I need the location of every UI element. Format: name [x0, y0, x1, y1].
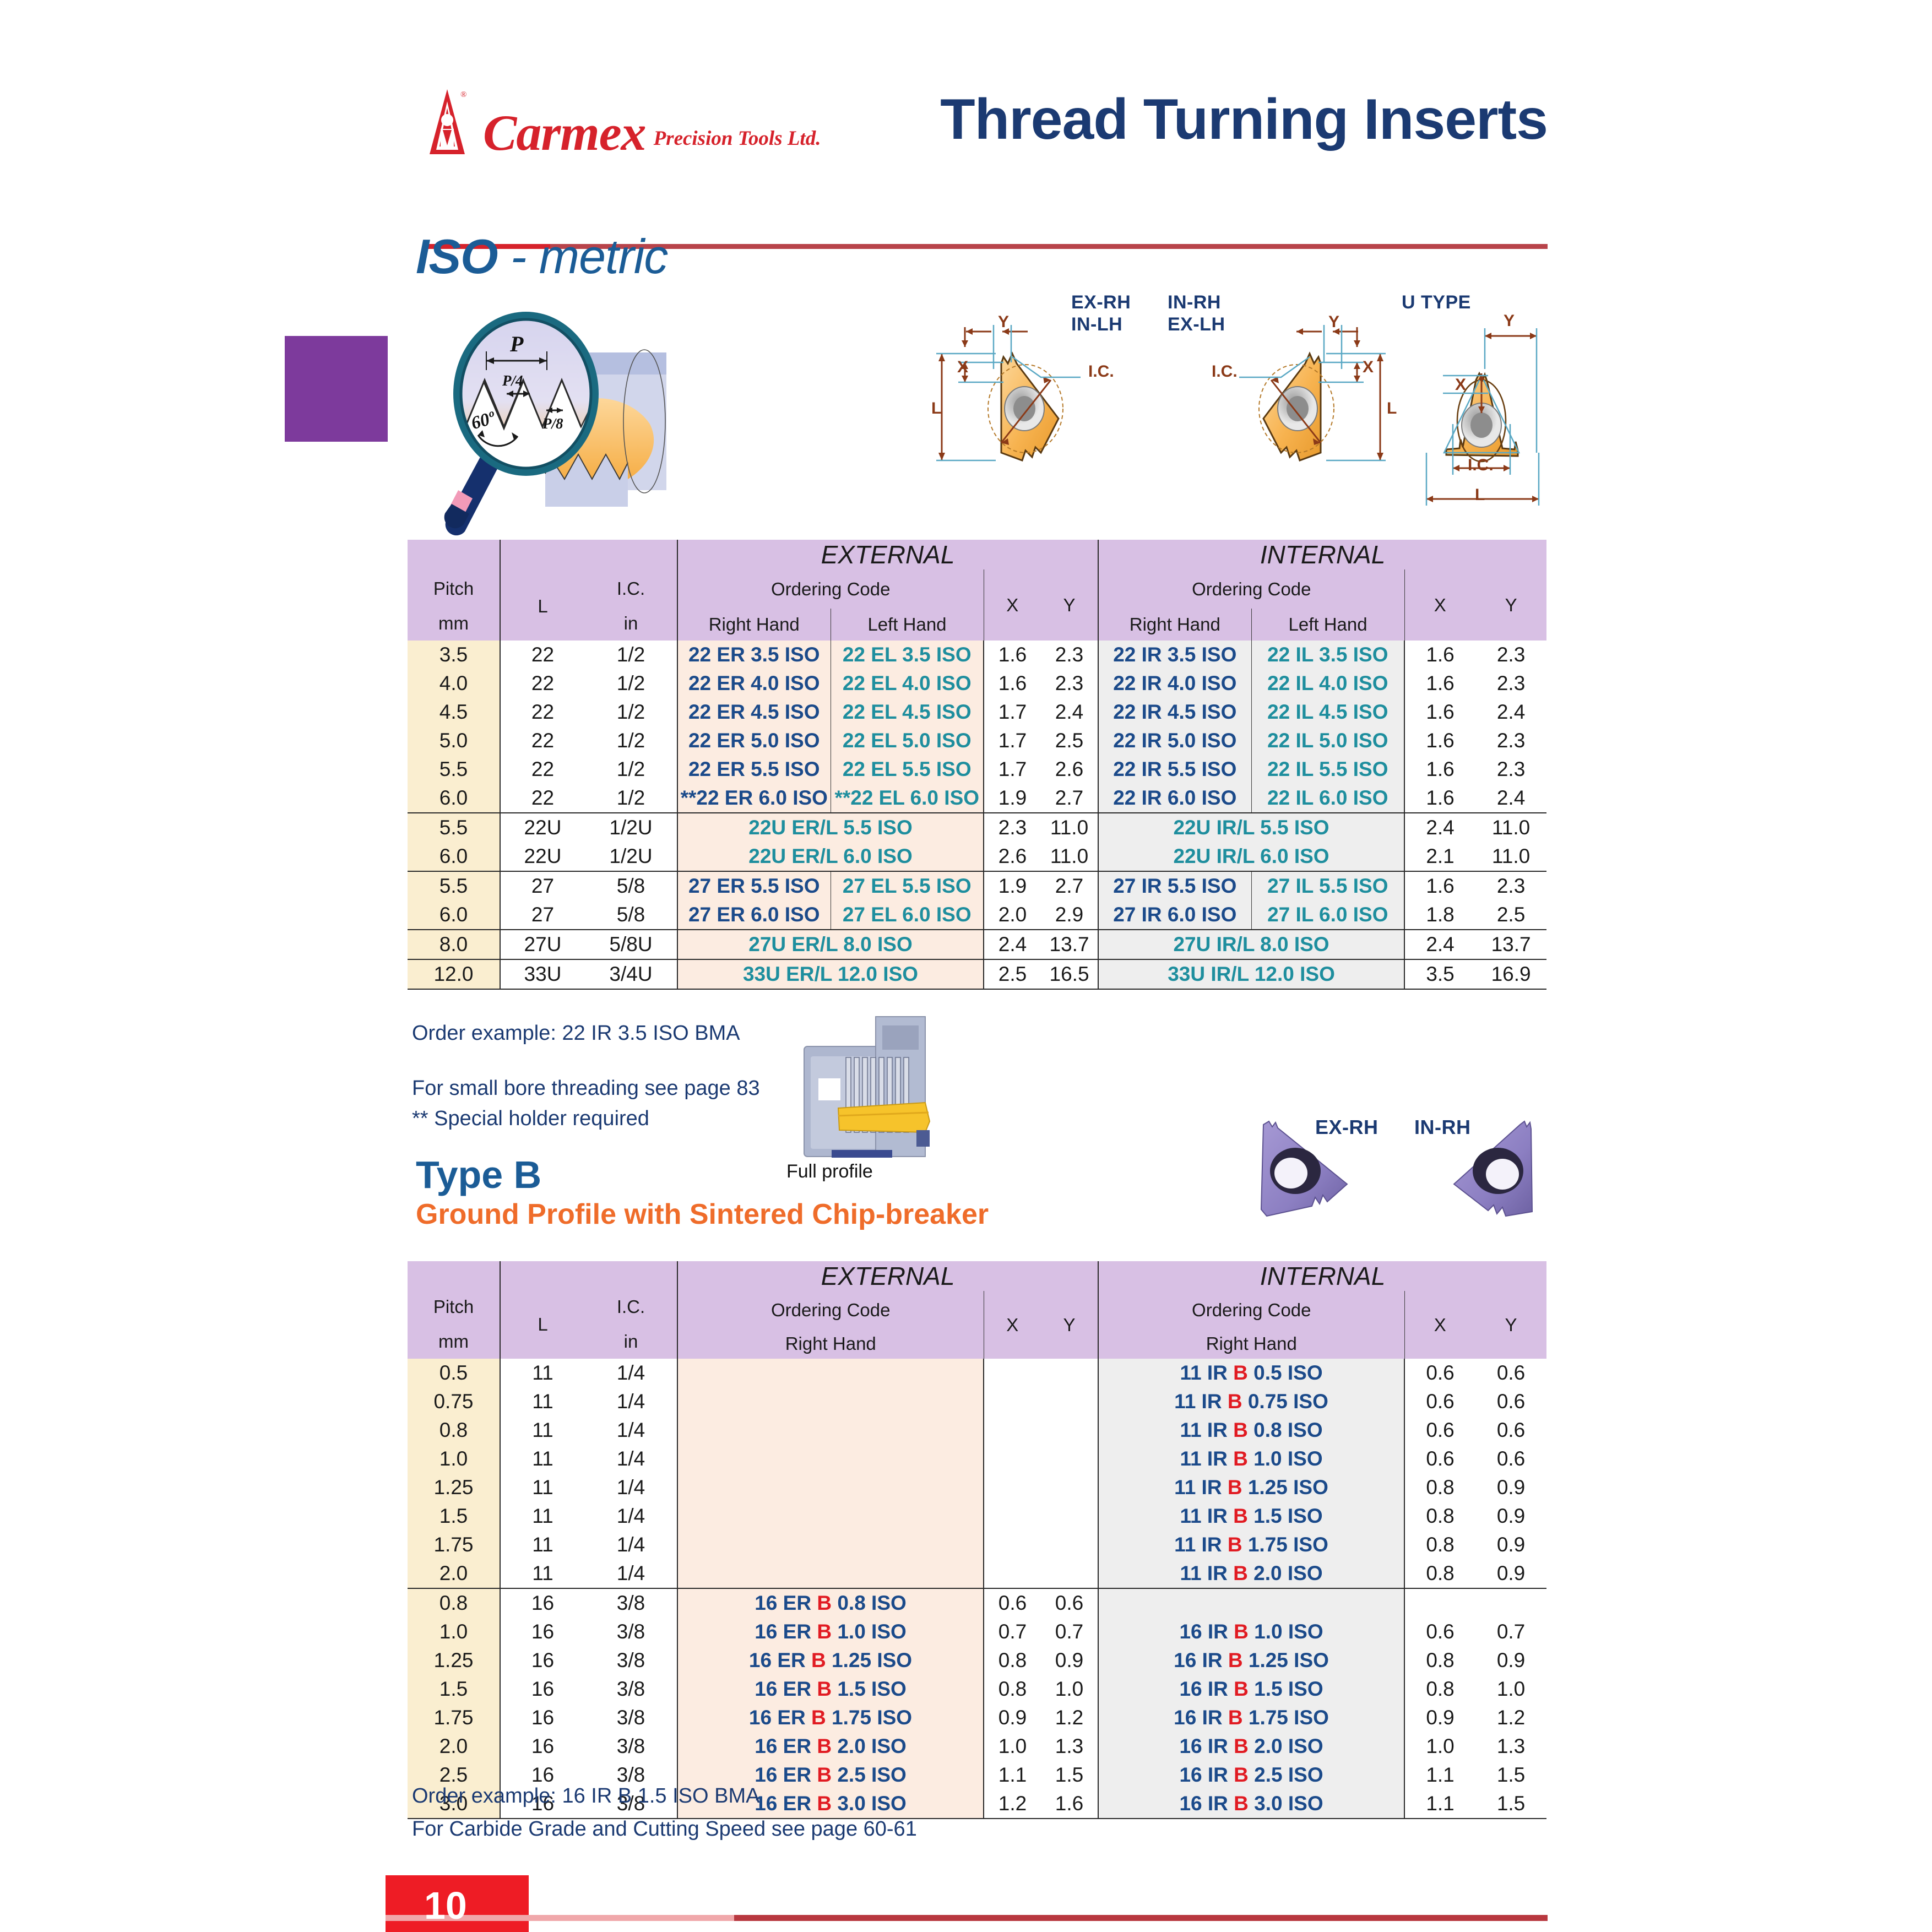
- cell-int-y: 0.9: [1475, 1502, 1546, 1531]
- section-title-type-b: Type B: [416, 1153, 541, 1197]
- cell-ext-y: 1.0: [1041, 1675, 1098, 1703]
- cell-ext-lh: **22 EL 6.0 ISO: [831, 784, 984, 813]
- brand-name: Carmex: [483, 109, 646, 157]
- cell-pitch: 1.25: [408, 1473, 500, 1502]
- table-row: 2.0111/411 IR B 2.0 ISO0.80.9: [408, 1559, 1546, 1588]
- dim-label-ic-u: I.C.: [1468, 456, 1494, 475]
- table-row: 3.5221/222 ER 3.5 ISO22 EL 3.5 ISO1.62.3…: [408, 641, 1546, 669]
- cell-int-y: 11.0: [1475, 842, 1546, 871]
- cell-ic: 1/4: [585, 1445, 677, 1473]
- cell-int-y: 2.3: [1475, 871, 1546, 900]
- th-ic: I.C.in: [585, 540, 677, 641]
- table-row: 4.0221/222 ER 4.0 ISO22 EL 4.0 ISO1.62.3…: [408, 669, 1546, 698]
- table-row: 4.5221/222 ER 4.5 ISO22 EL 4.5 ISO1.72.4…: [408, 698, 1546, 726]
- cell-int-x: 1.6: [1404, 871, 1475, 900]
- cell-l: 11: [500, 1559, 585, 1588]
- cell-int-x: 0.6: [1404, 1416, 1475, 1445]
- cell-ext-x: 1.7: [984, 726, 1041, 755]
- cell-int-y: 1.5: [1475, 1761, 1546, 1789]
- cell-pitch: 4.5: [408, 698, 500, 726]
- cell-ext-lh: 27 EL 6.0 ISO: [831, 900, 984, 930]
- cell-ext-code: [677, 1445, 984, 1473]
- cell-int-code: 11 IR B 0.5 ISO: [1098, 1359, 1404, 1387]
- dim-label-ic-left: I.C.: [1088, 362, 1114, 381]
- cell-int-rh: 22 IR 4.0 ISO: [1098, 669, 1251, 698]
- cell-int-code: 11 IR B 1.25 ISO: [1098, 1473, 1404, 1502]
- cell-int-code: 11 IR B 2.0 ISO: [1098, 1559, 1404, 1588]
- cell-l: 16: [500, 1618, 585, 1646]
- cell-int-rh: 22 IR 3.5 ISO: [1098, 641, 1251, 669]
- cell-pitch: 1.0: [408, 1445, 500, 1473]
- dim-label-y-u: Y: [1504, 312, 1515, 330]
- cell-int-y: 11.0: [1475, 813, 1546, 842]
- cell-int-y: 2.3: [1475, 641, 1546, 669]
- cell-int-code: 16 IR B 3.0 ISO: [1098, 1789, 1404, 1819]
- cell-ext-x: [984, 1387, 1041, 1416]
- cell-ext-lh: 22 EL 4.5 ISO: [831, 698, 984, 726]
- th2-int-right-hand: Right Hand: [1098, 1329, 1404, 1359]
- th-int-right-hand: Right Hand: [1098, 609, 1251, 641]
- cell-ext-x: 1.6: [984, 641, 1041, 669]
- th2-int-x: X: [1404, 1291, 1475, 1359]
- cell-ext-code: 16 ER B 1.0 ISO: [677, 1618, 984, 1646]
- cell-ic: 1/4: [585, 1416, 677, 1445]
- cell-ic: 3/8: [585, 1646, 677, 1675]
- cell-ext-y: 0.9: [1041, 1646, 1098, 1675]
- cell-ext-x: 0.7: [984, 1618, 1041, 1646]
- th-external: EXTERNAL: [677, 540, 1098, 569]
- cell-ext-x: [984, 1473, 1041, 1502]
- cell-ext-rh: 22 ER 4.0 ISO: [677, 669, 831, 698]
- cell-ext-y: [1041, 1359, 1098, 1387]
- cell-int-x: 1.6: [1404, 726, 1475, 755]
- th-int-x: X: [1404, 569, 1475, 641]
- cell-int-code: 11 IR B 0.75 ISO: [1098, 1387, 1404, 1416]
- th2-ext-y: Y: [1041, 1291, 1098, 1359]
- full-profile-holder-image: [799, 1013, 986, 1173]
- cell-int-y: 0.6: [1475, 1416, 1546, 1445]
- cell-int-rh: 27 IR 5.5 ISO: [1098, 871, 1251, 900]
- table-row: 6.0275/827 ER 6.0 ISO27 EL 6.0 ISO2.02.9…: [408, 900, 1546, 930]
- table-row: 2.0163/816 ER B 2.0 ISO1.01.316 IR B 2.0…: [408, 1732, 1546, 1761]
- cell-pitch: 1.5: [408, 1675, 500, 1703]
- cell-int-rh: 22 IR 4.5 ISO: [1098, 698, 1251, 726]
- th2-l: L: [500, 1261, 585, 1359]
- cell-pitch: 5.5: [408, 813, 500, 842]
- th2-ic: I.C.in: [585, 1261, 677, 1359]
- th-ext-right-hand: Right Hand: [677, 609, 831, 641]
- cell-ext-y: 1.3: [1041, 1732, 1098, 1761]
- cell-ic: 1/4: [585, 1359, 677, 1387]
- cell-ext-x: 2.6: [984, 842, 1041, 871]
- table-row: 0.75111/411 IR B 0.75 ISO0.60.6: [408, 1387, 1546, 1416]
- cell-ext-rh: 22 ER 4.5 ISO: [677, 698, 831, 726]
- cell-int-x: 0.8: [1404, 1531, 1475, 1559]
- cell-ext-code: [677, 1416, 984, 1445]
- cell-int-x: 0.8: [1404, 1646, 1475, 1675]
- cell-ic: 1/4: [585, 1559, 677, 1588]
- cell-l: 22U: [500, 813, 585, 842]
- cell-int-y: 2.3: [1475, 726, 1546, 755]
- th-int-left-hand: Left Hand: [1251, 609, 1404, 641]
- table-row: 0.8163/816 ER B 0.8 ISO0.60.6: [408, 1588, 1546, 1618]
- dim-label-ic-mid: I.C.: [1212, 362, 1238, 381]
- table-row: 5.5221/222 ER 5.5 ISO22 EL 5.5 ISO1.72.6…: [408, 755, 1546, 784]
- cell-int-x: 1.6: [1404, 669, 1475, 698]
- th2-external: EXTERNAL: [677, 1261, 1098, 1291]
- cell-pitch: 1.75: [408, 1531, 500, 1559]
- page-header: ® Carmex Precision Tools Ltd. Thread Tur…: [408, 77, 1548, 176]
- cell-pitch: 1.75: [408, 1703, 500, 1732]
- cell-pitch: 0.8: [408, 1416, 500, 1445]
- cell-ext-y: 11.0: [1041, 813, 1098, 842]
- cell-int-x: 1.6: [1404, 641, 1475, 669]
- cell-l: 33U: [500, 959, 585, 989]
- table-row: 1.75163/816 ER B 1.75 ISO0.91.216 IR B 1…: [408, 1703, 1546, 1732]
- note-small-bore: For small bore threading see page 83: [412, 1077, 760, 1100]
- cell-pitch: 4.0: [408, 669, 500, 698]
- cell-int-code: 16 IR B 1.0 ISO: [1098, 1618, 1404, 1646]
- cell-ext-code: [677, 1502, 984, 1531]
- cell-int-x: 0.6: [1404, 1445, 1475, 1473]
- cell-l: 22: [500, 669, 585, 698]
- cell-ic: 5/8U: [585, 930, 677, 959]
- cell-ext-code: [677, 1559, 984, 1588]
- cell-int-x: 0.8: [1404, 1675, 1475, 1703]
- cell-int-lh: 22 IL 4.0 ISO: [1251, 669, 1404, 698]
- cell-int-code: 22U IR/L 6.0 ISO: [1098, 842, 1404, 871]
- cell-ext-rh: 27 ER 5.5 ISO: [677, 871, 831, 900]
- cell-int-y: 0.9: [1475, 1531, 1546, 1559]
- cell-int-x: 2.1: [1404, 842, 1475, 871]
- cell-ic: 1/2: [585, 669, 677, 698]
- cell-ext-x: 2.4: [984, 930, 1041, 959]
- cell-l: 22: [500, 784, 585, 813]
- cell-int-code: 22U IR/L 5.5 ISO: [1098, 813, 1404, 842]
- cell-int-x: 1.1: [1404, 1789, 1475, 1819]
- table-row: 6.0221/2**22 ER 6.0 ISO**22 EL 6.0 ISO1.…: [408, 784, 1546, 813]
- th2-int-ordering-code: Ordering Code: [1098, 1291, 1404, 1329]
- note-order-example-1: Order example: 22 IR 3.5 ISO BMA: [412, 1022, 740, 1045]
- cell-ext-x: [984, 1502, 1041, 1531]
- cell-l: 11: [500, 1445, 585, 1473]
- th-int-ordering-code: Ordering Code: [1098, 569, 1404, 609]
- cell-int-x: 2.4: [1404, 930, 1475, 959]
- cell-int-lh: 22 IL 4.5 ISO: [1251, 698, 1404, 726]
- cell-ext-lh: 22 EL 5.0 ISO: [831, 726, 984, 755]
- cell-int-lh: 27 IL 6.0 ISO: [1251, 900, 1404, 930]
- cell-l: 27: [500, 871, 585, 900]
- cell-ext-x: 2.0: [984, 900, 1041, 930]
- table-row: 0.5111/411 IR B 0.5 ISO0.60.6: [408, 1359, 1546, 1387]
- carmex-logo-icon: ®: [419, 88, 476, 157]
- cell-l: 27U: [500, 930, 585, 959]
- cell-ext-code: 27U ER/L 8.0 ISO: [677, 930, 984, 959]
- th-internal: INTERNAL: [1098, 540, 1546, 569]
- cell-l: 11: [500, 1416, 585, 1445]
- cell-ic: 3/8: [585, 1588, 677, 1618]
- cell-pitch: 6.0: [408, 784, 500, 813]
- table-row: 1.0163/816 ER B 1.0 ISO0.70.716 IR B 1.0…: [408, 1618, 1546, 1646]
- cell-ext-rh: 27 ER 6.0 ISO: [677, 900, 831, 930]
- cell-l: 22: [500, 755, 585, 784]
- table-row: 1.5163/816 ER B 1.5 ISO0.81.016 IR B 1.5…: [408, 1675, 1546, 1703]
- cell-ext-x: [984, 1559, 1041, 1588]
- dim-label-y-mid: Y: [1328, 313, 1339, 332]
- cell-int-code: 16 IR B 2.5 ISO: [1098, 1761, 1404, 1789]
- cell-int-lh: 22 IL 5.0 ISO: [1251, 726, 1404, 755]
- cell-ext-code: [677, 1359, 984, 1387]
- cell-ic: 1/2: [585, 755, 677, 784]
- section-subtitle-type-b: Ground Profile with Sintered Chip-breake…: [416, 1198, 989, 1231]
- cell-l: 16: [500, 1703, 585, 1732]
- cell-l: 16: [500, 1675, 585, 1703]
- cell-ext-y: 1.6: [1041, 1789, 1098, 1819]
- th-ext-y: Y: [1041, 569, 1098, 641]
- catalog-page: ® Carmex Precision Tools Ltd. Thread Tur…: [0, 0, 1932, 1932]
- cell-l: 11: [500, 1502, 585, 1531]
- cell-int-code: 16 IR B 2.0 ISO: [1098, 1732, 1404, 1761]
- cell-ext-lh: 27 EL 5.5 ISO: [831, 871, 984, 900]
- cell-int-rh: 22 IR 5.0 ISO: [1098, 726, 1251, 755]
- iso-metric-table: PitchmmLI.C.inEXTERNALINTERNALOrdering C…: [408, 540, 1546, 990]
- cell-pitch: 3.5: [408, 641, 500, 669]
- cell-int-x: 0.8: [1404, 1473, 1475, 1502]
- cell-int-x: 0.8: [1404, 1559, 1475, 1588]
- cell-ic: 1/2: [585, 784, 677, 813]
- cell-int-y: 0.7: [1475, 1618, 1546, 1646]
- cell-pitch: 5.5: [408, 755, 500, 784]
- th-ext-left-hand: Left Hand: [831, 609, 984, 641]
- cell-ext-code: 16 ER B 1.75 ISO: [677, 1703, 984, 1732]
- th2-ext-ordering-code: Ordering Code: [677, 1291, 984, 1329]
- cell-pitch: 2.0: [408, 1732, 500, 1761]
- th-ext-x: X: [984, 569, 1041, 641]
- cell-int-code: 11 IR B 0.8 ISO: [1098, 1416, 1404, 1445]
- cell-int-y: 2.5: [1475, 900, 1546, 930]
- table-row: 12.033U3/4U33U ER/L 12.0 ISO2.516.533U I…: [408, 959, 1546, 989]
- cell-l: 22: [500, 641, 585, 669]
- cell-int-x: 3.5: [1404, 959, 1475, 989]
- cell-int-lh: 22 IL 6.0 ISO: [1251, 784, 1404, 813]
- cell-int-y: 0.9: [1475, 1559, 1546, 1588]
- th2-internal: INTERNAL: [1098, 1261, 1546, 1291]
- cell-ic: 3/8: [585, 1732, 677, 1761]
- cell-ext-lh: 22 EL 3.5 ISO: [831, 641, 984, 669]
- cell-l: 11: [500, 1387, 585, 1416]
- cell-ext-y: 2.3: [1041, 669, 1098, 698]
- cell-ext-lh: 22 EL 5.5 ISO: [831, 755, 984, 784]
- cell-ext-code: 16 ER B 1.25 ISO: [677, 1646, 984, 1675]
- cell-int-code: [1098, 1588, 1404, 1618]
- th-l: L: [500, 540, 585, 641]
- purple-accent-block: [285, 336, 388, 442]
- cell-pitch: 1.5: [408, 1502, 500, 1531]
- cell-int-x: 0.8: [1404, 1502, 1475, 1531]
- cell-ext-y: [1041, 1531, 1098, 1559]
- iso-title-bold: ISO: [416, 229, 498, 284]
- magnifier-label-p4: P/4: [502, 372, 523, 389]
- cell-int-code: 11 IR B 1.0 ISO: [1098, 1445, 1404, 1473]
- cell-ext-code: 22U ER/L 6.0 ISO: [677, 842, 984, 871]
- cell-int-code: 11 IR B 1.75 ISO: [1098, 1531, 1404, 1559]
- th2-pitch: Pitchmm: [408, 1261, 500, 1359]
- cell-int-code: 33U IR/L 12.0 ISO: [1098, 959, 1404, 989]
- table-row: 5.5275/827 ER 5.5 ISO27 EL 5.5 ISO1.92.7…: [408, 871, 1546, 900]
- th-pitch: Pitchmm: [408, 540, 500, 641]
- cell-int-y: 16.9: [1475, 959, 1546, 989]
- cell-ic: 3/8: [585, 1703, 677, 1732]
- cell-ext-x: 1.2: [984, 1789, 1041, 1819]
- footer-divider: [386, 1915, 1548, 1921]
- insert-photo-in-rh: [1454, 1121, 1532, 1216]
- cell-int-x: 1.1: [1404, 1761, 1475, 1789]
- cell-int-y: 0.6: [1475, 1359, 1546, 1387]
- cell-int-y: 1.0: [1475, 1675, 1546, 1703]
- cell-int-rh: 22 IR 6.0 ISO: [1098, 784, 1251, 813]
- insert-dimension-diagrams: EX-RH IN-LH IN-RH EX-LH U TYPE: [931, 292, 1548, 523]
- type-b-insert-photos: EX-RH IN-RH: [1245, 1107, 1542, 1245]
- magnifier-label-p8: P/8: [542, 415, 563, 432]
- cell-int-y: 0.9: [1475, 1646, 1546, 1675]
- cell-pitch: 5.5: [408, 871, 500, 900]
- cell-int-x: 1.6: [1404, 698, 1475, 726]
- cell-int-code: 16 IR B 1.5 ISO: [1098, 1675, 1404, 1703]
- cell-ic: 1/2: [585, 641, 677, 669]
- insert-shape-ex-rh: [988, 354, 1063, 460]
- note-carbide-grade: For Carbide Grade and Cutting Speed see …: [412, 1817, 917, 1841]
- cell-l: 16: [500, 1732, 585, 1761]
- carmex-logo: ® Carmex Precision Tools Ltd.: [419, 88, 821, 157]
- th-int-y: Y: [1475, 569, 1546, 641]
- cell-l: 11: [500, 1359, 585, 1387]
- cell-int-y: 2.4: [1475, 784, 1546, 813]
- cell-l: 22: [500, 698, 585, 726]
- th2-int-y: Y: [1475, 1291, 1546, 1359]
- cell-pitch: 0.5: [408, 1359, 500, 1387]
- cell-ext-y: 0.7: [1041, 1618, 1098, 1646]
- cell-ext-y: 2.3: [1041, 641, 1098, 669]
- cell-ext-code: [677, 1531, 984, 1559]
- cell-int-x: 0.6: [1404, 1387, 1475, 1416]
- brand-tagline: Precision Tools Ltd.: [654, 127, 821, 157]
- table-row: 5.522U1/2U22U ER/L 5.5 ISO2.311.022U IR/…: [408, 813, 1546, 842]
- dim-label-l-mid: L: [1387, 399, 1397, 418]
- section-title-iso-metric: ISO - metric: [416, 229, 667, 285]
- table-row: 1.75111/411 IR B 1.75 ISO0.80.9: [408, 1531, 1546, 1559]
- cell-ic: 1/4: [585, 1387, 677, 1416]
- cell-ic: 3/4U: [585, 959, 677, 989]
- cell-ext-x: [984, 1445, 1041, 1473]
- cell-int-y: 1.5: [1475, 1789, 1546, 1819]
- cell-int-y: 0.9: [1475, 1473, 1546, 1502]
- cell-l: 11: [500, 1473, 585, 1502]
- cell-ic: 1/4: [585, 1531, 677, 1559]
- cell-ext-rh: 22 ER 3.5 ISO: [677, 641, 831, 669]
- cell-ext-code: 16 ER B 1.5 ISO: [677, 1675, 984, 1703]
- note-special-holder: ** Special holder required: [412, 1107, 649, 1131]
- cell-ext-y: [1041, 1559, 1098, 1588]
- cell-int-y: 1.3: [1475, 1732, 1546, 1761]
- cell-ic: 3/8: [585, 1675, 677, 1703]
- cell-ext-y: [1041, 1416, 1098, 1445]
- cell-int-lh: 22 IL 3.5 ISO: [1251, 641, 1404, 669]
- cell-ext-y: 2.5: [1041, 726, 1098, 755]
- cell-ext-code: [677, 1473, 984, 1502]
- cell-ext-y: 16.5: [1041, 959, 1098, 989]
- cell-int-y: 2.4: [1475, 698, 1546, 726]
- cell-pitch: 1.0: [408, 1618, 500, 1646]
- dim-label-l-u: L: [1475, 486, 1485, 504]
- table-row: 8.027U5/8U27U ER/L 8.0 ISO2.413.727U IR/…: [408, 930, 1546, 959]
- table-row: 1.25111/411 IR B 1.25 ISO0.80.9: [408, 1473, 1546, 1502]
- magnifier-label-p: P: [509, 332, 524, 356]
- table-row: 1.5111/411 IR B 1.5 ISO0.80.9: [408, 1502, 1546, 1531]
- cell-pitch: 1.25: [408, 1646, 500, 1675]
- cell-pitch: 0.8: [408, 1588, 500, 1618]
- cell-ext-y: 13.7: [1041, 930, 1098, 959]
- cell-ext-x: 1.7: [984, 755, 1041, 784]
- cell-ext-x: 2.3: [984, 813, 1041, 842]
- cell-int-x: 1.6: [1404, 784, 1475, 813]
- cell-ext-y: 2.9: [1041, 900, 1098, 930]
- cell-int-code: 27U IR/L 8.0 ISO: [1098, 930, 1404, 959]
- cell-ext-code: 16 ER B 0.8 ISO: [677, 1588, 984, 1618]
- cell-l: 16: [500, 1588, 585, 1618]
- cell-l: 22U: [500, 842, 585, 871]
- cell-int-y: 2.3: [1475, 755, 1546, 784]
- cell-pitch: 5.0: [408, 726, 500, 755]
- cell-l: 16: [500, 1646, 585, 1675]
- cell-int-x: [1404, 1588, 1475, 1618]
- cell-pitch: 6.0: [408, 900, 500, 930]
- cell-int-x: 0.9: [1404, 1703, 1475, 1732]
- cell-pitch: 0.75: [408, 1387, 500, 1416]
- dim-label-x-left: X: [957, 358, 968, 377]
- cell-ic: 1/2: [585, 726, 677, 755]
- cell-int-code: 16 IR B 1.75 ISO: [1098, 1703, 1404, 1732]
- cell-int-y: 2.3: [1475, 669, 1546, 698]
- cell-ext-x: 0.9: [984, 1703, 1041, 1732]
- cell-ext-x: 1.6: [984, 669, 1041, 698]
- cell-pitch: 6.0: [408, 842, 500, 871]
- cell-ext-x: [984, 1359, 1041, 1387]
- cell-ext-code: 33U ER/L 12.0 ISO: [677, 959, 984, 989]
- cell-ext-y: 0.6: [1041, 1588, 1098, 1618]
- cell-int-rh: 27 IR 6.0 ISO: [1098, 900, 1251, 930]
- cell-int-lh: 22 IL 5.5 ISO: [1251, 755, 1404, 784]
- cell-ext-code: 22U ER/L 5.5 ISO: [677, 813, 984, 842]
- table-row: 5.0221/222 ER 5.0 ISO22 EL 5.0 ISO1.72.5…: [408, 726, 1546, 755]
- cell-int-y: [1475, 1588, 1546, 1618]
- svg-text:®: ®: [460, 90, 466, 99]
- cell-int-x: 1.8: [1404, 900, 1475, 930]
- cell-ext-y: [1041, 1473, 1098, 1502]
- cell-ext-rh: 22 ER 5.0 ISO: [677, 726, 831, 755]
- note-order-example-2: Order example: 16 IR B 1.5 ISO BMA: [412, 1784, 759, 1808]
- table-row: 6.022U1/2U22U ER/L 6.0 ISO2.611.022U IR/…: [408, 842, 1546, 871]
- cell-ext-x: 0.8: [984, 1675, 1041, 1703]
- cell-ext-y: [1041, 1445, 1098, 1473]
- cell-int-x: 1.0: [1404, 1732, 1475, 1761]
- table-row: 0.8111/411 IR B 0.8 ISO0.60.6: [408, 1416, 1546, 1445]
- cell-ic: 1/4: [585, 1502, 677, 1531]
- th-ext-ordering-code: Ordering Code: [677, 569, 984, 609]
- cell-ext-x: 1.1: [984, 1761, 1041, 1789]
- cell-ic: 1/4: [585, 1473, 677, 1502]
- cell-ext-x: 0.6: [984, 1588, 1041, 1618]
- cell-int-y: 1.2: [1475, 1703, 1546, 1732]
